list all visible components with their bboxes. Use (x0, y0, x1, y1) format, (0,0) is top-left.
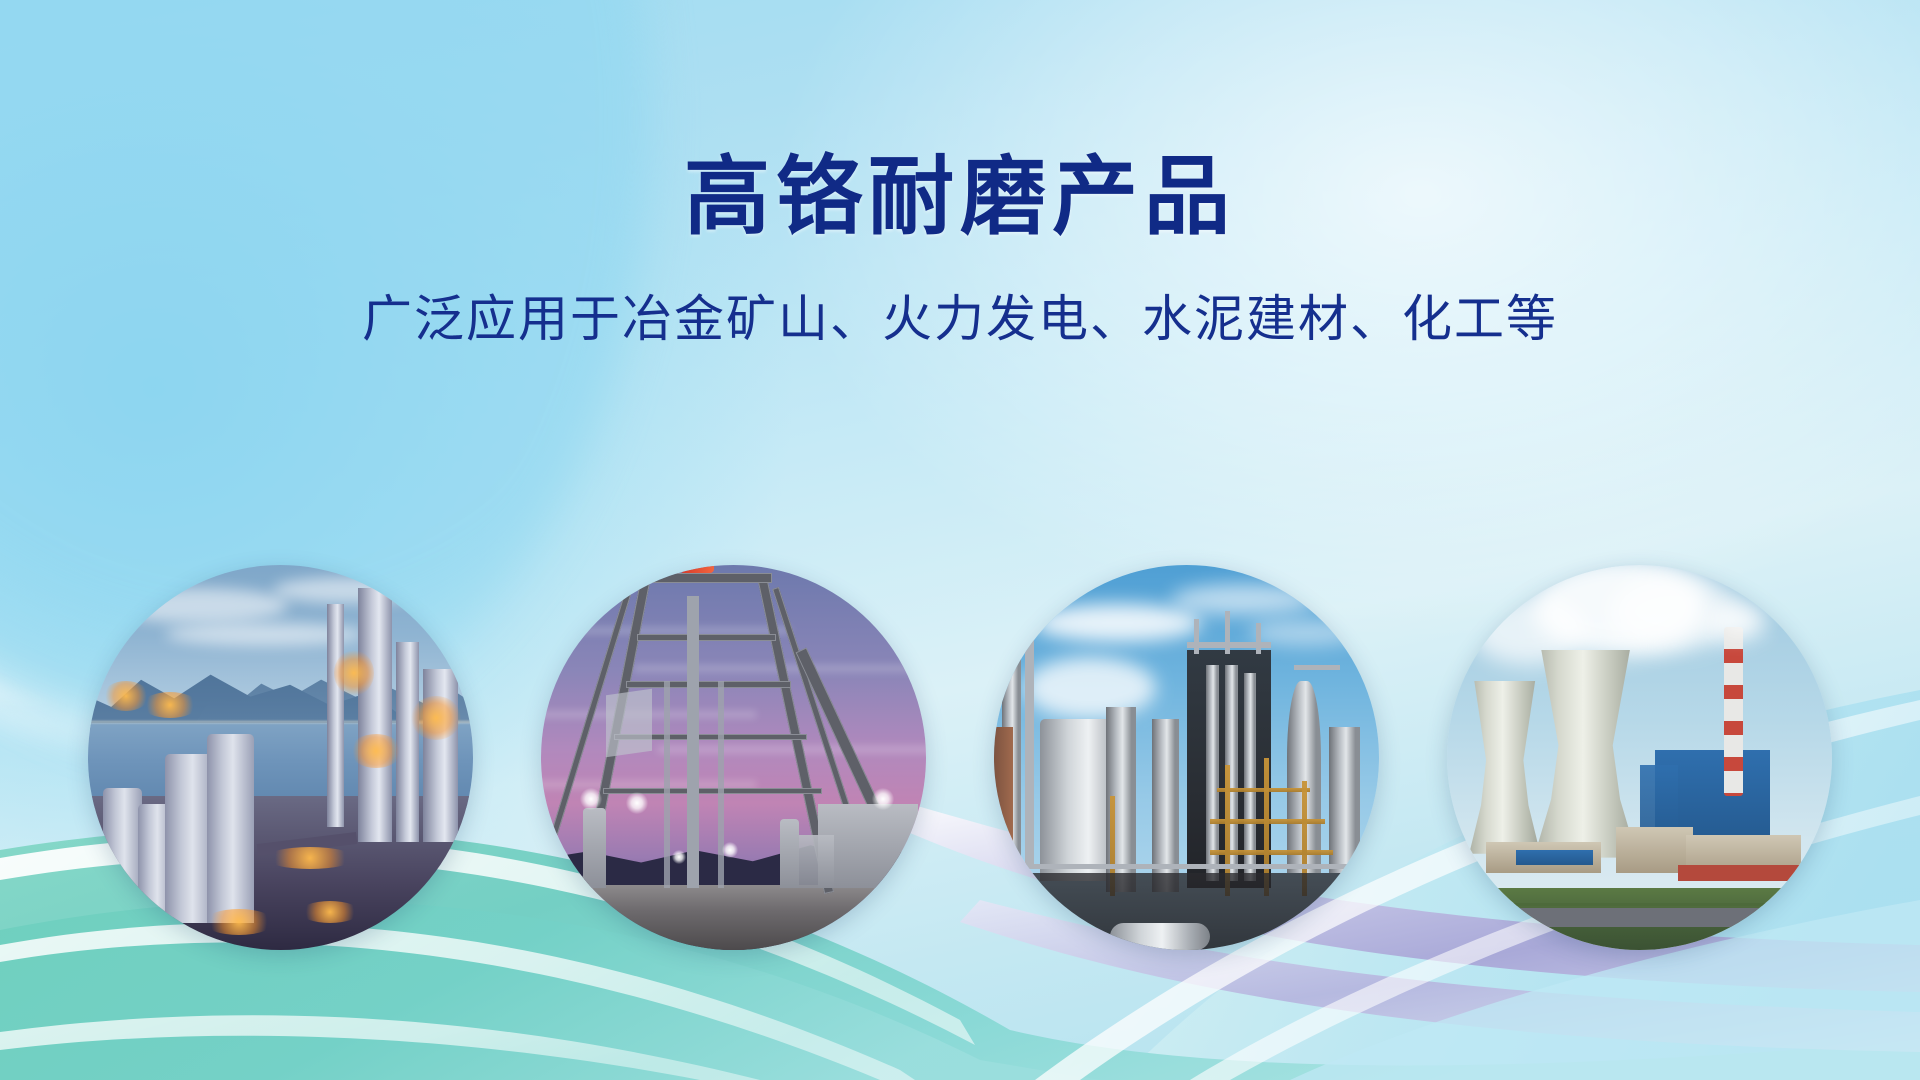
promo-banner: 高铬耐磨产品 广泛应用于冶金矿山、火力发电、水泥建材、化工等 (0, 0, 1920, 1080)
photo-circle-mine-headframe[interactable] (541, 565, 926, 950)
page-title: 高铬耐磨产品 (0, 150, 1920, 245)
photo-circle-thermal-power-plant[interactable] (1447, 565, 1832, 950)
photo-circle-chemical-refinery[interactable] (994, 565, 1379, 950)
cement-plant-scene (88, 565, 473, 950)
headline-block: 高铬耐磨产品 广泛应用于冶金矿山、火力发电、水泥建材、化工等 (0, 150, 1920, 349)
photo-circle-cement-plant[interactable] (88, 565, 473, 950)
page-subtitle: 广泛应用于冶金矿山、火力发电、水泥建材、化工等 (0, 289, 1920, 349)
chemical-refinery-scene (994, 565, 1379, 950)
thermal-power-plant-scene (1447, 565, 1832, 950)
industry-photo-row (0, 565, 1920, 950)
mine-headframe-scene (541, 565, 926, 950)
